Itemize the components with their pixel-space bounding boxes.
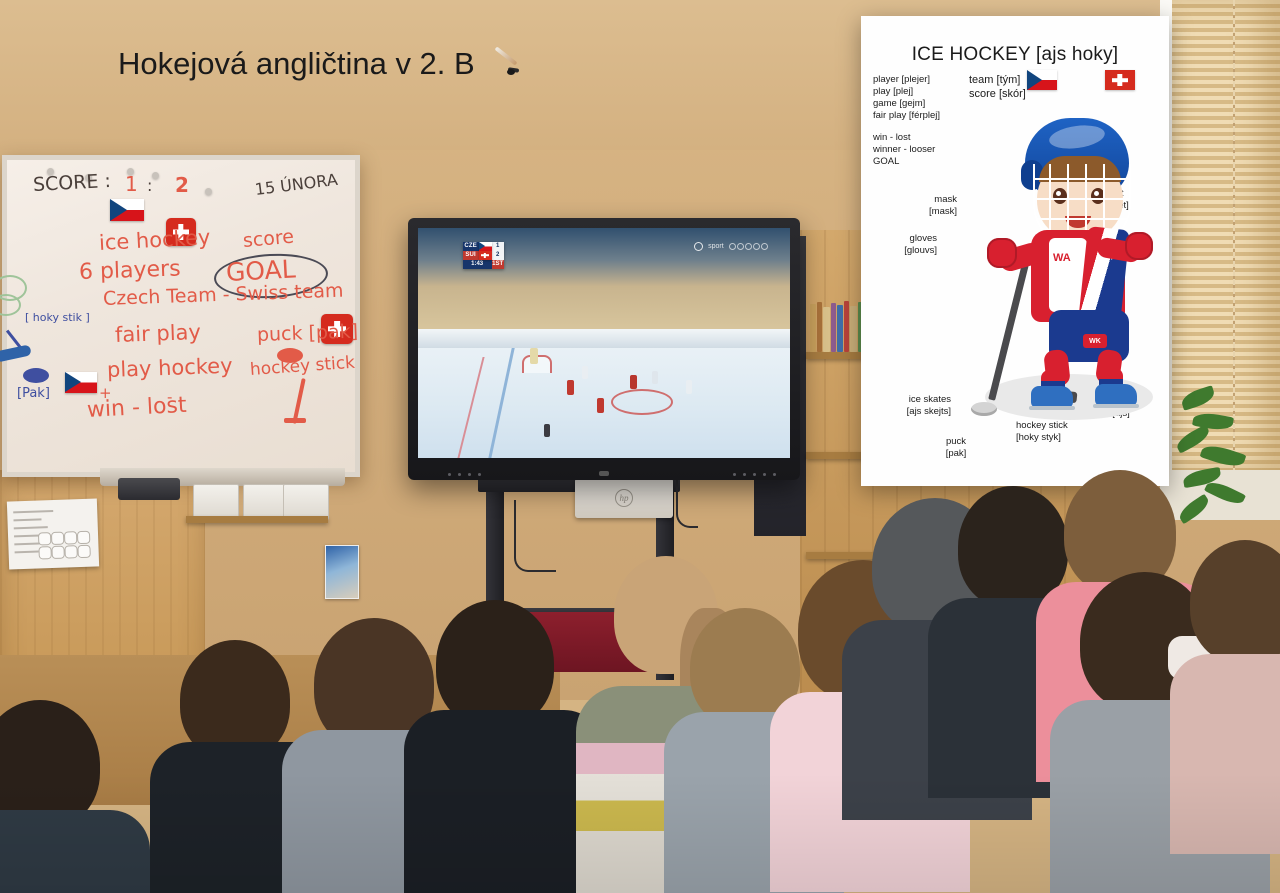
player-red — [567, 380, 574, 395]
tv-screen[interactable]: CZE 1 SUI 2 1:43 1ST sport — [418, 228, 790, 458]
rink-faceoff-circle — [611, 389, 673, 415]
display-brand-logo — [599, 471, 609, 476]
whiteboard-score-away: 2 — [175, 173, 189, 197]
mascot-skate-blade-left — [1029, 406, 1075, 410]
olympic-rings-icon — [729, 243, 768, 250]
poster-swiss-flag — [1105, 70, 1135, 90]
poster-czech-flag — [1027, 70, 1057, 90]
player-goalie — [530, 348, 538, 364]
scoreboard-team1-flag — [479, 242, 492, 251]
storage-box — [193, 484, 239, 520]
whiteboard-stick-blade-blue — [0, 344, 32, 362]
student-body — [404, 710, 604, 893]
green-doodle — [0, 294, 21, 316]
whiteboard-line-win-lost: win - lost — [86, 393, 187, 423]
classroom-whiteboard[interactable]: SCORE : 1 : 2 15 ÚNORA ice hockey score … — [2, 155, 360, 477]
scoreboard-team2-flag — [479, 251, 492, 260]
ice-hockey-vocabulary-poster: ICE HOCKEY [ajs hoky] player [plejer] pl… — [861, 16, 1169, 486]
whiteboard-line-teams: Czech Team - Swiss team — [103, 280, 344, 310]
channel-name: sport — [708, 243, 724, 250]
whiteboard-line-play-hockey: play hockey — [107, 354, 233, 382]
poster-vocab-left: player [plejer] play [plej] game [gejm] … — [873, 74, 940, 122]
mascot-glove-left — [987, 238, 1017, 268]
hp-laptop[interactable]: hp — [575, 478, 673, 518]
ct-logo-icon — [694, 242, 703, 251]
poster-label-gloves: gloves [glouvs] — [861, 233, 937, 257]
whiteboard-hoky-stik-label: [ hoky stik ] — [25, 312, 90, 323]
field-hockey-stick-and-ball-icon — [491, 52, 521, 78]
wall-speaker — [118, 478, 180, 500]
mascot-puck — [971, 402, 997, 416]
page-title-text: Hokejová angličtina v 2. B — [118, 46, 475, 81]
mascot-ice-skate-right — [1095, 384, 1137, 406]
scoreboard-team1-score: 1 — [492, 242, 504, 251]
display-control-buttons-right[interactable] — [733, 473, 776, 476]
player-red — [630, 375, 637, 389]
whiteboard-date: 15 ÚNORA — [254, 170, 339, 199]
poster-result-vocab: win - lost winner - looser GOAL — [873, 132, 935, 168]
scoreboard-team1-abbr: CZE — [463, 242, 479, 251]
scoreboard-period: 1ST — [492, 260, 504, 269]
page-title: Hokejová angličtina v 2. B — [118, 46, 521, 82]
poster-label-ice-skates: ice skates [ajs skejts] — [861, 394, 951, 418]
whiteboard-czech-flag-sticker-2 — [65, 372, 97, 393]
hp-logo-icon: hp — [615, 489, 633, 507]
player-white — [652, 371, 658, 384]
whiteboard-stick-blade-red — [284, 418, 306, 423]
whiteboard-line-ice-hockey: ice hockey — [98, 225, 211, 255]
mascot-glove-right — [1125, 232, 1153, 260]
whiteboard-line-6-players: 6 players — [79, 256, 181, 285]
player-white — [582, 366, 588, 379]
whiteboard-line-hockey-stick: hockey stick — [249, 353, 355, 380]
hdmi-cable — [676, 472, 698, 528]
poster-team-label: team [tým] — [969, 74, 1020, 86]
whiteboard-puck-drawing-blue — [23, 368, 49, 383]
student-body — [1170, 654, 1280, 854]
wall-chart-paper — [7, 498, 99, 569]
whiteboard-line-fair-play: fair play — [115, 320, 202, 347]
mascot-pants-badge: WK — [1083, 334, 1107, 348]
magnet[interactable] — [152, 172, 159, 179]
poster-label-mask: mask [mask] — [861, 194, 957, 218]
poster-title: ICE HOCKEY [ajs hoky] — [861, 44, 1169, 66]
rink-ice-surface — [418, 348, 790, 458]
whiteboard-line-puck: puck [pak] — [257, 320, 359, 346]
whiteboard-photo-sticker — [325, 545, 359, 599]
player-referee — [544, 424, 550, 437]
whiteboard-pak-label: [Pak] — [17, 386, 50, 401]
mascot-skate-blade-right — [1093, 404, 1139, 408]
scoreboard-team2-score: 2 — [492, 251, 504, 260]
student-head — [436, 600, 554, 728]
scoreboard-team2-abbr: SUI — [463, 251, 479, 260]
magnet[interactable] — [205, 188, 212, 195]
scoreboard-clock: 1:43 — [463, 260, 492, 269]
interactive-display[interactable]: CZE 1 SUI 2 1:43 1ST sport — [408, 218, 800, 480]
mascot-ice-skate-left — [1031, 386, 1073, 408]
whiteboard-score-label: SCORE : — [32, 170, 111, 196]
storage-box — [283, 484, 329, 520]
classroom-photo: SCORE : 1 : 2 15 ÚNORA ice hockey score … — [0, 0, 1280, 893]
player-white — [686, 380, 692, 394]
broadcast-scoreboard: CZE 1 SUI 2 1:43 1ST — [463, 242, 504, 269]
whiteboard-line-score: score — [242, 226, 295, 252]
player-red — [597, 398, 604, 413]
poster-score-label: score [skór] — [969, 88, 1026, 100]
broadcast-channel-logo: sport — [694, 242, 768, 251]
low-shelf-board — [186, 516, 328, 523]
hockey-player-mascot: WA SKS WK — [979, 112, 1159, 442]
mascot-jersey-crest: WA — [1053, 252, 1071, 264]
display-control-buttons-left[interactable] — [448, 473, 481, 476]
window-plant — [1175, 370, 1280, 540]
poster-label-puck: puck [pak] — [929, 436, 983, 460]
whiteboard-czech-flag-sticker — [110, 199, 144, 221]
whiteboard-score-sep: : — [147, 176, 152, 195]
power-cable — [514, 500, 556, 572]
student-body — [0, 810, 150, 893]
whiteboard-score-home: 1 — [125, 172, 138, 196]
